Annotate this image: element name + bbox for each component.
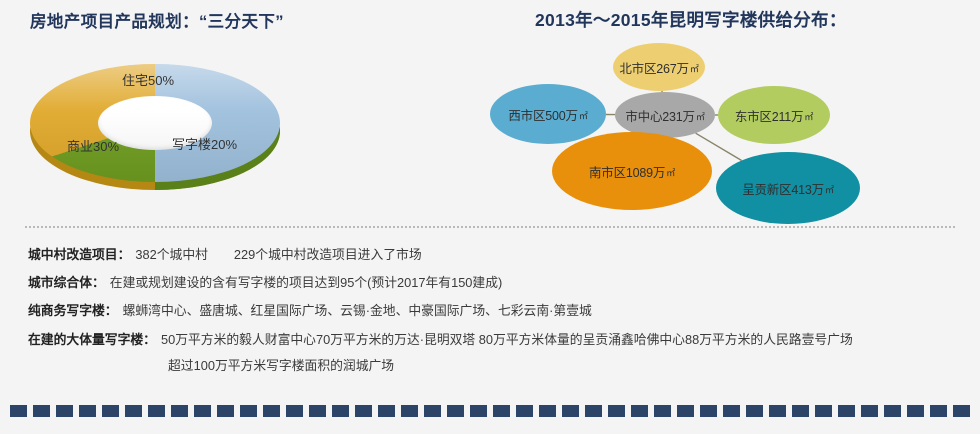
bubble-node-label: 北市区267万㎡ — [619, 58, 698, 77]
bubble-node-label: 西市区500万㎡ — [508, 105, 587, 124]
bubble-node-unit: ㎡ — [690, 64, 699, 74]
bubble-node-label: 市中心231万㎡ — [625, 106, 704, 125]
bubble-node-unit: ㎡ — [825, 185, 834, 195]
page-title-right: 2013年～2015年昆明写字楼供给分布： — [535, 7, 847, 32]
note-value: 382个城中村229个城中村改造项目进入了市场 — [135, 245, 421, 264]
note-label: 纯商务写字楼： — [28, 301, 118, 320]
donut-chart: 住宅50% 商业30% 写字楼20% — [22, 52, 292, 202]
bubble-node-unit: ㎡ — [696, 112, 705, 122]
notes-block: 城中村改造项目： 382个城中村229个城中村改造项目进入了市场 城市综合体： … — [28, 245, 958, 382]
note-value: 螺蛳湾中心、盛唐城、红星国际广场、云锡·金地、中豪国际广场、七彩云南·第壹城 — [123, 301, 592, 320]
bubble-node-南市区[interactable]: 南市区1089万㎡ — [552, 132, 712, 210]
note-label: 城中村改造项目： — [28, 245, 130, 264]
note-row: 城中村改造项目： 382个城中村229个城中村改造项目进入了市场 — [28, 245, 958, 264]
page-title-left: 房地产项目产品规划：“三分天下” — [30, 8, 284, 32]
bubble-diagram: 市中心231万㎡北市区267万㎡西市区500万㎡东市区211万㎡南市区1089万… — [480, 42, 980, 222]
bubble-node-label: 呈贡新区413万㎡ — [742, 179, 834, 198]
note-row: 纯商务写字楼： 螺蛳湾中心、盛唐城、红星国际广场、云锡·金地、中豪国际广场、七彩… — [28, 301, 958, 320]
note-continuation-line: 超过100万平方米写字楼面积的润城广场 — [168, 355, 958, 374]
note-row: 城市综合体： 在建或规划建设的含有写字楼的项目达到95个(预计2017年有150… — [28, 273, 958, 292]
note-value-a: 382个城中村 — [135, 247, 208, 262]
bubble-node-unit: ㎡ — [579, 111, 588, 121]
note-value: 在建或规划建设的含有写字楼的项目达到95个(预计2017年有150建成) — [110, 273, 503, 292]
note-value: 50万平方米的毅人财富中心70万平方米的万达·昆明双塔 80万平方米体量的呈贡涌… — [161, 330, 853, 349]
bubble-node-label: 南市区1089万㎡ — [589, 162, 675, 181]
donut-slice-label-commercial: 商业30% — [67, 136, 119, 155]
bubble-node-呈贡新区[interactable]: 呈贡新区413万㎡ — [716, 152, 860, 224]
bubble-node-unit: ㎡ — [666, 168, 675, 178]
bottom-dashed-bar — [10, 405, 970, 417]
bubble-node-东市区[interactable]: 东市区211万㎡ — [718, 86, 830, 144]
note-row: 在建的大体量写字楼： 50万平方米的毅人财富中心70万平方米的万达·昆明双塔 8… — [28, 330, 958, 349]
note-value-b: 229个城中村改造项目进入了市场 — [234, 247, 422, 262]
note-label: 在建的大体量写字楼： — [28, 330, 156, 349]
bubble-node-西市区[interactable]: 西市区500万㎡ — [490, 84, 606, 144]
donut-slice-label-residential: 住宅50% — [122, 70, 174, 89]
section-divider — [25, 226, 955, 228]
note-label: 城市综合体： — [28, 273, 105, 292]
bubble-node-unit: ㎡ — [804, 112, 813, 122]
bubble-node-label: 东市区211万㎡ — [735, 106, 813, 125]
donut-slice-label-office: 写字楼20% — [172, 134, 237, 153]
bubble-node-北市区[interactable]: 北市区267万㎡ — [613, 43, 705, 91]
